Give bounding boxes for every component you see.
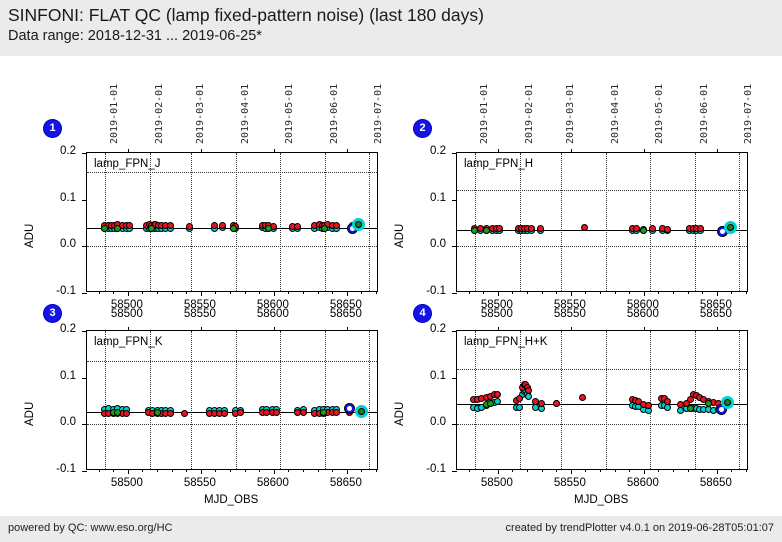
x-tick-minor-bottom [629,469,630,472]
data-point [494,398,501,405]
x-tick-minor-bottom [658,469,659,472]
y-tick [452,331,457,332]
vertical-gridline [650,331,651,469]
vertical-gridline [561,331,562,469]
panel-badge-4[interactable]: 4 [414,305,431,322]
x-axis-label: MJD_OBS [574,494,628,506]
x-tick-label: 58550 [540,477,600,489]
footer-created-by: created by trendPlotter v4.0.1 on 2019-0… [506,522,774,534]
x-tick-bottom [571,469,572,474]
data-point [687,405,694,412]
x-tick-minor-bottom [615,469,616,472]
x-tick-label-top: 58500 [467,308,527,320]
reference-line [457,404,747,405]
data-point [538,400,545,407]
vertical-gridline [695,331,696,469]
x-tick-bottom [644,469,645,474]
data-point [494,391,501,398]
data-point [516,395,523,402]
page-footer: powered by QC: www.eso.org/HC created by… [0,516,782,542]
data-point [579,394,586,401]
data-point [645,402,652,409]
x-tick-minor-bottom [731,469,732,472]
x-tick-minor-bottom [483,469,484,472]
y-axis-label: ADU [394,402,406,426]
vertical-gridline [606,331,607,469]
y-tick [452,424,457,425]
y-tick-label: 0.0 [412,416,446,428]
data-point [664,398,671,405]
x-tick-bottom [498,469,499,474]
plot-panel-4: 4lamp_FPN_H+K0.20.10.0-0.1ADU58500585505… [0,0,782,542]
data-point [705,400,712,407]
y-tick-label: -0.1 [412,463,446,475]
data-point [487,400,494,407]
x-tick-top [498,327,499,331]
threshold-gridline [457,424,747,425]
x-tick-minor-bottom [556,469,557,472]
data-point [553,400,560,407]
x-tick-label-top: 58650 [686,308,746,320]
data-point [525,393,532,400]
x-tick-label-top: 58600 [613,308,673,320]
x-tick-minor-bottom [585,469,586,472]
x-tick-bottom [717,469,718,474]
footer-powered-by: powered by QC: www.eso.org/HC [8,522,172,534]
data-point [525,387,532,394]
x-tick-minor-bottom [746,469,747,472]
data-point [516,404,523,411]
threshold-gridline [457,369,747,370]
x-tick-top [644,327,645,331]
x-tick-label: 58600 [613,477,673,489]
x-tick-minor-bottom [512,469,513,472]
x-tick-minor-bottom [688,469,689,472]
x-tick-minor-bottom [542,469,543,472]
vertical-gridline [739,331,740,469]
flagged-point-core [724,399,731,406]
y-tick [452,378,457,379]
x-tick-label-top: 58550 [540,308,600,320]
x-tick-minor-bottom [527,469,528,472]
y-tick [452,471,457,472]
x-tick-label: 58500 [467,477,527,489]
x-tick-minor-bottom [469,469,470,472]
x-tick-minor-bottom [600,469,601,472]
plot-area-4 [457,331,747,469]
x-tick-top [571,327,572,331]
x-tick-minor-bottom [702,469,703,472]
data-point [664,404,671,411]
x-tick-label: 58650 [686,477,746,489]
x-tick-minor-bottom [673,469,674,472]
x-tick-top [717,327,718,331]
y-tick-label: 0.2 [412,323,446,335]
panel-name-label: lamp_FPN_H+K [464,336,547,348]
y-tick-label: 0.1 [412,370,446,382]
plot-frame-4 [456,330,748,470]
